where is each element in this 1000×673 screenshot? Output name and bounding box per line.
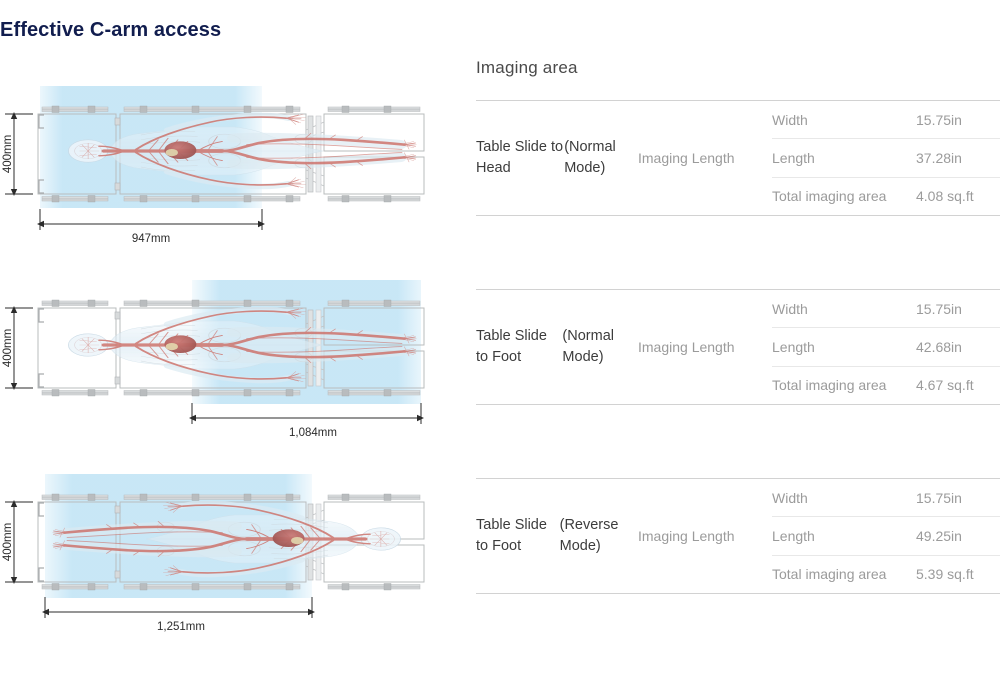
spec-mode-label-1: Table Slide to Head (Normal Mode) xyxy=(476,101,638,215)
spec-metric-value: 49.25in xyxy=(916,528,962,544)
spec-metric-value: 4.08 sq.ft xyxy=(916,188,974,204)
spec-metric-value: 42.68in xyxy=(916,339,962,355)
spec-metric-key: Length xyxy=(772,528,916,544)
spec-gap-2 xyxy=(476,405,1000,478)
spec-mode-line-1a: Table Slide to Head xyxy=(476,137,564,179)
spec-metric-value: 4.67 sq.ft xyxy=(916,377,974,393)
spec-metric-key: Total imaging area xyxy=(772,566,916,582)
spec-metric-row: Length 37.28in xyxy=(772,138,1000,176)
dimension-horizontal-label-3: 1,251mm xyxy=(157,621,205,633)
spec-metric-row: Total imaging area 4.08 sq.ft xyxy=(772,177,1000,215)
spec-mode-label-3: Table Slide to Foot (Reverse Mode) xyxy=(476,479,638,593)
spec-mode-line-2b: (Normal Mode) xyxy=(562,326,632,368)
spec-values-2: Width 15.75in Length 42.68in Total imagi… xyxy=(772,290,1000,404)
spec-mode-line-3b: (Reverse Mode) xyxy=(560,515,632,557)
spec-measure-label-2: Imaging Length xyxy=(638,290,772,404)
spec-block-table-slide-to-foot-reverse: Table Slide to Foot (Reverse Mode) Imagi… xyxy=(476,478,1000,594)
dimension-vertical-label-2: 400mm xyxy=(2,329,14,367)
spec-metric-value: 37.28in xyxy=(916,150,962,166)
spec-metric-key: Total imaging area xyxy=(772,188,916,204)
diagram-table-slide-to-foot-reverse: 400mm 1,251mm xyxy=(0,466,460,646)
diagram-table-slide-to-foot-normal: 400mm 1,084mm xyxy=(0,272,460,452)
spec-metric-key: Length xyxy=(772,339,916,355)
diagram-1-svg: 400mm 947mm xyxy=(0,78,460,258)
diagram-2-svg: 400mm 1,084mm xyxy=(0,272,460,452)
dimension-horizontal-2 xyxy=(189,403,424,424)
spec-metric-key: Width xyxy=(772,301,916,317)
spec-metric-row: Width 15.75in xyxy=(772,479,1000,516)
spec-mode-line-1b: (Normal Mode) xyxy=(564,137,632,179)
spec-block-table-slide-to-foot-normal: Table Slide to Foot (Normal Mode) Imagin… xyxy=(476,289,1000,405)
imaging-area-heading: Imaging area xyxy=(476,58,1000,78)
dimension-horizontal-label-2: 1,084mm xyxy=(289,427,337,439)
spec-metric-value: 15.75in xyxy=(916,301,962,317)
spec-mode-line-3a: Table Slide to Foot xyxy=(476,515,560,557)
page-title: Effective C-arm access xyxy=(0,19,221,42)
spec-metric-value: 15.75in xyxy=(916,490,962,506)
spec-metric-row: Length 42.68in xyxy=(772,327,1000,365)
diagram-3-svg: 400mm 1,251mm xyxy=(0,466,460,646)
spec-metric-row: Width 15.75in xyxy=(772,101,1000,138)
spec-metric-row: Total imaging area 5.39 sq.ft xyxy=(772,555,1000,593)
spec-metric-row: Width 15.75in xyxy=(772,290,1000,327)
page-root: Effective C-arm access xyxy=(0,0,1000,673)
dimension-horizontal-3 xyxy=(42,597,315,618)
spec-metric-value: 15.75in xyxy=(916,112,962,128)
spec-measure-label-3: Imaging Length xyxy=(638,479,772,593)
dimension-horizontal-label-1: 947mm xyxy=(132,233,170,245)
spec-block-table-slide-to-head-normal: Table Slide to Head (Normal Mode) Imagin… xyxy=(476,100,1000,216)
spec-metric-key: Total imaging area xyxy=(772,377,916,393)
dimension-vertical-label-1: 400mm xyxy=(2,135,14,173)
diagrams-panel: 400mm 947mm xyxy=(0,78,460,668)
spec-metric-row: Total imaging area 4.67 sq.ft xyxy=(772,366,1000,404)
spec-mode-label-2: Table Slide to Foot (Normal Mode) xyxy=(476,290,638,404)
spec-values-1: Width 15.75in Length 37.28in Total imagi… xyxy=(772,101,1000,215)
spec-metric-key: Width xyxy=(772,112,916,128)
spec-mode-line-2a: Table Slide to Foot xyxy=(476,326,562,368)
spec-measure-label-1: Imaging Length xyxy=(638,101,772,215)
dimension-vertical-label-3: 400mm xyxy=(2,523,14,561)
spec-metric-row: Length 49.25in xyxy=(772,516,1000,554)
spec-values-3: Width 15.75in Length 49.25in Total imagi… xyxy=(772,479,1000,593)
spec-metric-value: 5.39 sq.ft xyxy=(916,566,974,582)
spec-metric-key: Length xyxy=(772,150,916,166)
diagram-table-slide-to-head-normal: 400mm 947mm xyxy=(0,78,460,258)
spec-metric-key: Width xyxy=(772,490,916,506)
imaging-area-panel: Imaging area Table Slide to Head (Normal… xyxy=(476,58,1000,594)
spec-gap-1 xyxy=(476,216,1000,289)
dimension-horizontal-1 xyxy=(37,209,265,230)
